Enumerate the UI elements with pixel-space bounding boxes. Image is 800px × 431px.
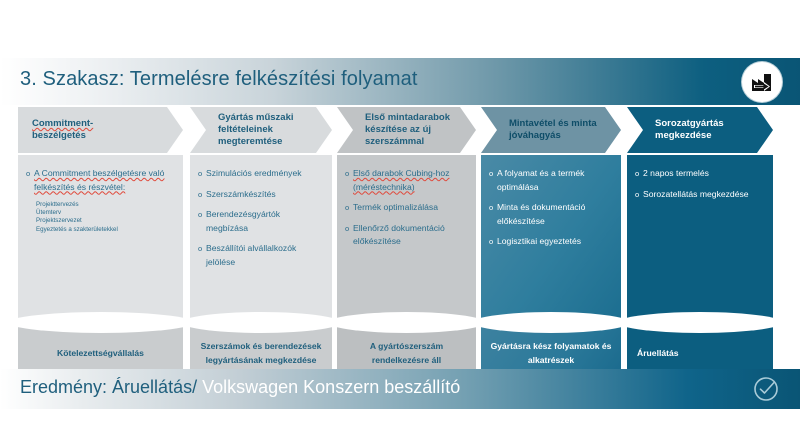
list-item: Projektszervezet <box>36 217 175 225</box>
stage-header-5: Sorozatgyártás megkezdése <box>627 107 773 153</box>
stage-header-4: Mintavétel és minta jóváhagyás <box>481 107 621 153</box>
list-item: Ütemterv <box>36 209 175 217</box>
stage-body-1: A Commitment beszélgetésre való felkészí… <box>18 155 183 324</box>
result-rest: Volkswagen Konszern beszállító <box>197 377 460 397</box>
list-item: Egyeztetés a szakterületekkel <box>36 226 175 234</box>
stage-body-5: 2 napos termelés Sorozatellátás megkezdé… <box>627 155 773 324</box>
stage-column-3[interactable]: Első mintadarabok készítése az új szersz… <box>337 107 476 379</box>
list-item: A folyamat és a termék optimálása <box>489 167 613 194</box>
stage-bullet-list-3: Első darabok Cubing-hoz (méréstechnika) … <box>345 167 468 249</box>
stage-body-3: Első darabok Cubing-hoz (méréstechnika) … <box>337 155 476 324</box>
stage-subbullet-list-1: Projekttervezés Ütemterv Projektszerveze… <box>36 201 175 234</box>
stage-body-4: A folyamat és a termék optimálása Minta … <box>481 155 621 324</box>
list-item: Szimulációs eredmények <box>198 167 324 181</box>
list-item: Első darabok Cubing-hoz (méréstechnika) <box>345 167 468 194</box>
process-flow: Commitment- beszélgetés A Commitment bes… <box>0 107 800 362</box>
slide-title-bar: 3. Szakasz: Termelésre felkészítési foly… <box>0 58 800 105</box>
page-title: 3. Szakasz: Termelésre felkészítési foly… <box>20 68 418 91</box>
stage-column-2[interactable]: Gyártás műszaki feltételeinek megteremté… <box>190 107 332 379</box>
stage-column-4[interactable]: Mintavétel és minta jóváhagyás A folyama… <box>481 107 621 379</box>
list-item: A Commitment beszélgetésre való felkészí… <box>26 167 175 194</box>
list-item: Berendezésgyártók megbízása <box>198 208 324 235</box>
stage-bullet-list-2: Szimulációs eredmények Szerszámkészítés … <box>198 167 324 269</box>
stage-body-2: Szimulációs eredmények Szerszámkészítés … <box>190 155 332 324</box>
list-item: Projekttervezés <box>36 201 175 209</box>
factory-icon <box>742 62 782 102</box>
stage-bullet-list-1: A Commitment beszélgetésre való felkészí… <box>26 167 175 194</box>
stage-bullet-list-4: A folyamat és a termék optimálása Minta … <box>489 167 613 249</box>
stage-title-4: Mintavétel és minta jóváhagyás <box>481 118 617 142</box>
list-item: Sorozatellátás megkezdése <box>635 188 765 202</box>
result-highlight: Eredmény: Áruellátás/ <box>20 377 197 397</box>
stage-column-1[interactable]: Commitment- beszélgetés A Commitment bes… <box>18 107 183 379</box>
check-circle-icon <box>752 375 780 403</box>
stage-header-3: Első mintadarabok készítése az új szersz… <box>337 107 476 153</box>
stage-column-5[interactable]: Sorozatgyártás megkezdése 2 napos termel… <box>627 107 773 379</box>
list-item: Termék optimalizálása <box>345 201 468 215</box>
list-item: Ellenőrző dokumentáció előkészítése <box>345 222 468 249</box>
stage-title-1: Commitment- beszélgetés <box>18 118 113 142</box>
stage-title-5: Sorozatgyártás megkezdése <box>627 118 744 142</box>
list-item: Logisztikai egyeztetés <box>489 235 613 249</box>
list-item: Minta és dokumentáció előkészítése <box>489 201 613 228</box>
stage-header-1: Commitment- beszélgetés <box>18 107 183 153</box>
list-item: Beszállítói alvállalkozók jelölése <box>198 242 324 269</box>
stage-header-2: Gyártás műszaki feltételeinek megteremté… <box>190 107 332 153</box>
stage-title-3: Első mintadarabok készítése az új szersz… <box>337 112 470 148</box>
list-item: Szerszámkészítés <box>198 188 324 202</box>
result-text: Eredmény: Áruellátás/ Volkswagen Konszer… <box>20 377 460 398</box>
stage-bullet-list-5: 2 napos termelés Sorozatellátás megkezdé… <box>635 167 765 201</box>
stage-title-2: Gyártás műszaki feltételeinek megteremté… <box>190 112 332 148</box>
result-bar: Eredmény: Áruellátás/ Volkswagen Konszer… <box>0 369 800 409</box>
list-item: 2 napos termelés <box>635 167 765 181</box>
